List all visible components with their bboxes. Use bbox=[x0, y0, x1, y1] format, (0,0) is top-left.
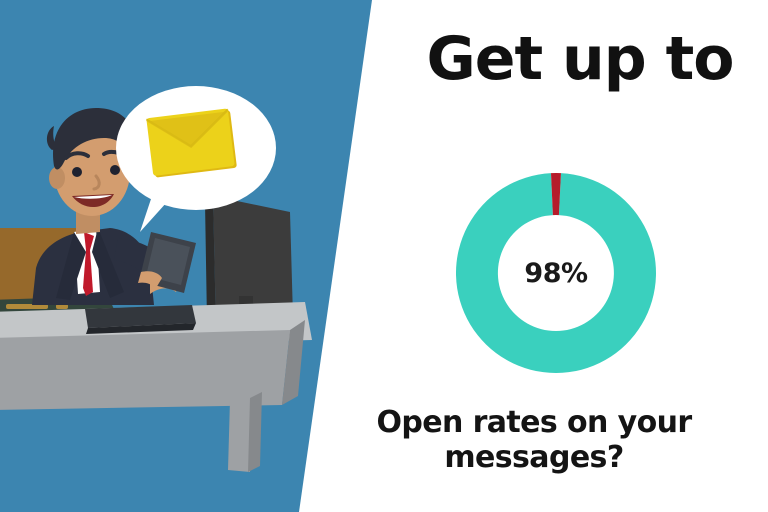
page-title: Get up to bbox=[392, 28, 768, 91]
email-envelope-icon bbox=[146, 108, 237, 178]
donut-svg bbox=[456, 173, 656, 373]
infographic-canvas: Get up to 98% Open rates on your message… bbox=[0, 0, 768, 512]
page-subtitle: Open rates on your messages? bbox=[300, 405, 768, 475]
keyboard bbox=[85, 305, 196, 334]
open-rate-donut-chart: 98% bbox=[456, 173, 656, 373]
